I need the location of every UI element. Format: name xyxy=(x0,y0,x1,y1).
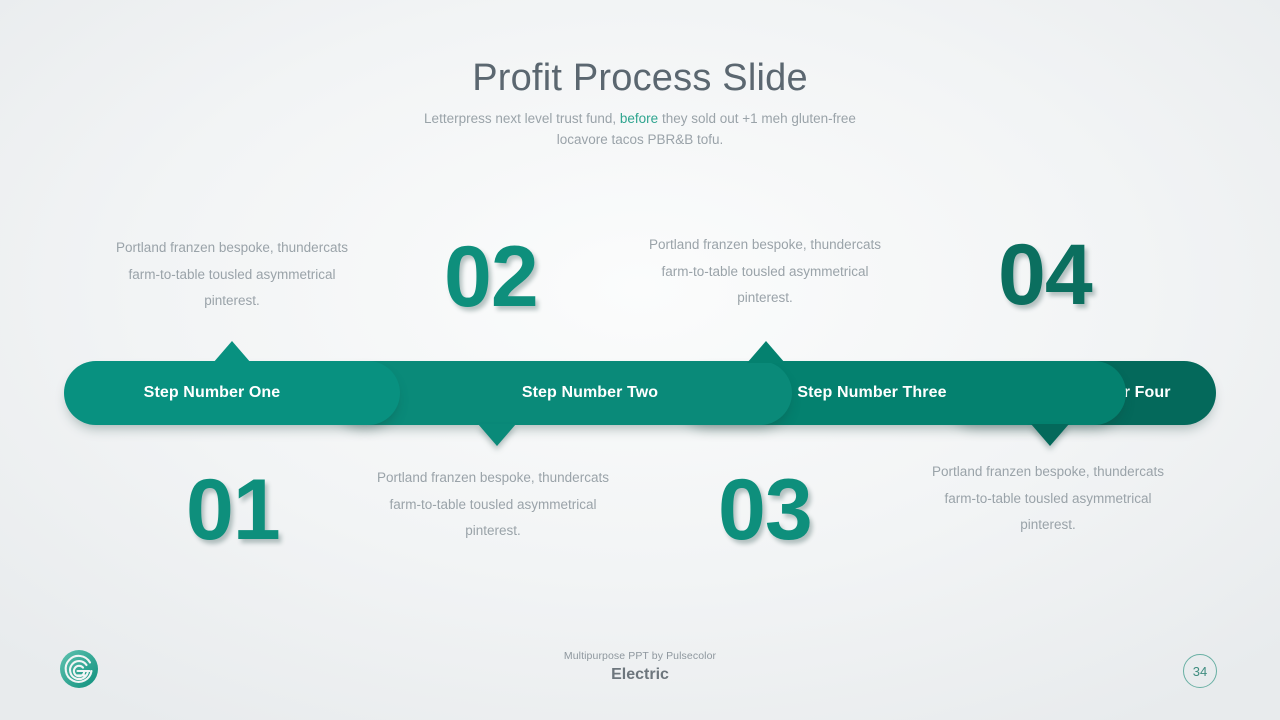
step-description-2: Portland franzen bespoke, thundercats fa… xyxy=(363,465,623,545)
slide-canvas: Profit Process Slide Letterpress next le… xyxy=(0,0,1280,720)
page-subtitle: Letterpress next level trust fund, befor… xyxy=(405,109,875,151)
pointer-down-icon-2 xyxy=(478,424,516,446)
pointer-up-icon-3 xyxy=(747,341,785,363)
slide-footer: Multipurpose PPT by Pulsecolor Electric xyxy=(0,650,1280,684)
step-number-1: 01 xyxy=(186,467,280,553)
step-description-4: Portland franzen bespoke, thundercats fa… xyxy=(918,459,1178,539)
pointer-down-icon-4 xyxy=(1031,424,1069,446)
process-step-label-2: Step Number Two xyxy=(522,384,658,402)
footer-tagline: Multipurpose PPT by Pulsecolor xyxy=(0,650,1280,662)
process-step-1[interactable]: Step Number One xyxy=(64,361,400,425)
pointer-up-icon-1 xyxy=(213,341,251,363)
brand-logo-icon xyxy=(55,645,103,693)
process-step-label-3: Step Number Three xyxy=(797,384,946,402)
step-description-3: Portland franzen bespoke, thundercats fa… xyxy=(635,232,895,312)
page-title: Profit Process Slide xyxy=(0,58,1280,99)
step-number-3: 03 xyxy=(718,467,812,553)
subtitle-part-1: Letterpress next level trust fund, xyxy=(424,111,620,126)
process-bar: Step Number Four Step Number Three Step … xyxy=(64,361,1216,425)
slide-header: Profit Process Slide Letterpress next le… xyxy=(0,58,1280,151)
subtitle-highlight: before xyxy=(620,111,658,126)
page-number-value: 34 xyxy=(1193,664,1207,679)
step-number-2: 02 xyxy=(444,234,538,320)
footer-brand: Electric xyxy=(0,666,1280,684)
step-description-1: Portland franzen bespoke, thundercats fa… xyxy=(102,235,362,315)
page-number-badge: 34 xyxy=(1183,654,1217,688)
process-step-label-1: Step Number One xyxy=(144,384,281,402)
step-number-4: 04 xyxy=(998,232,1092,318)
